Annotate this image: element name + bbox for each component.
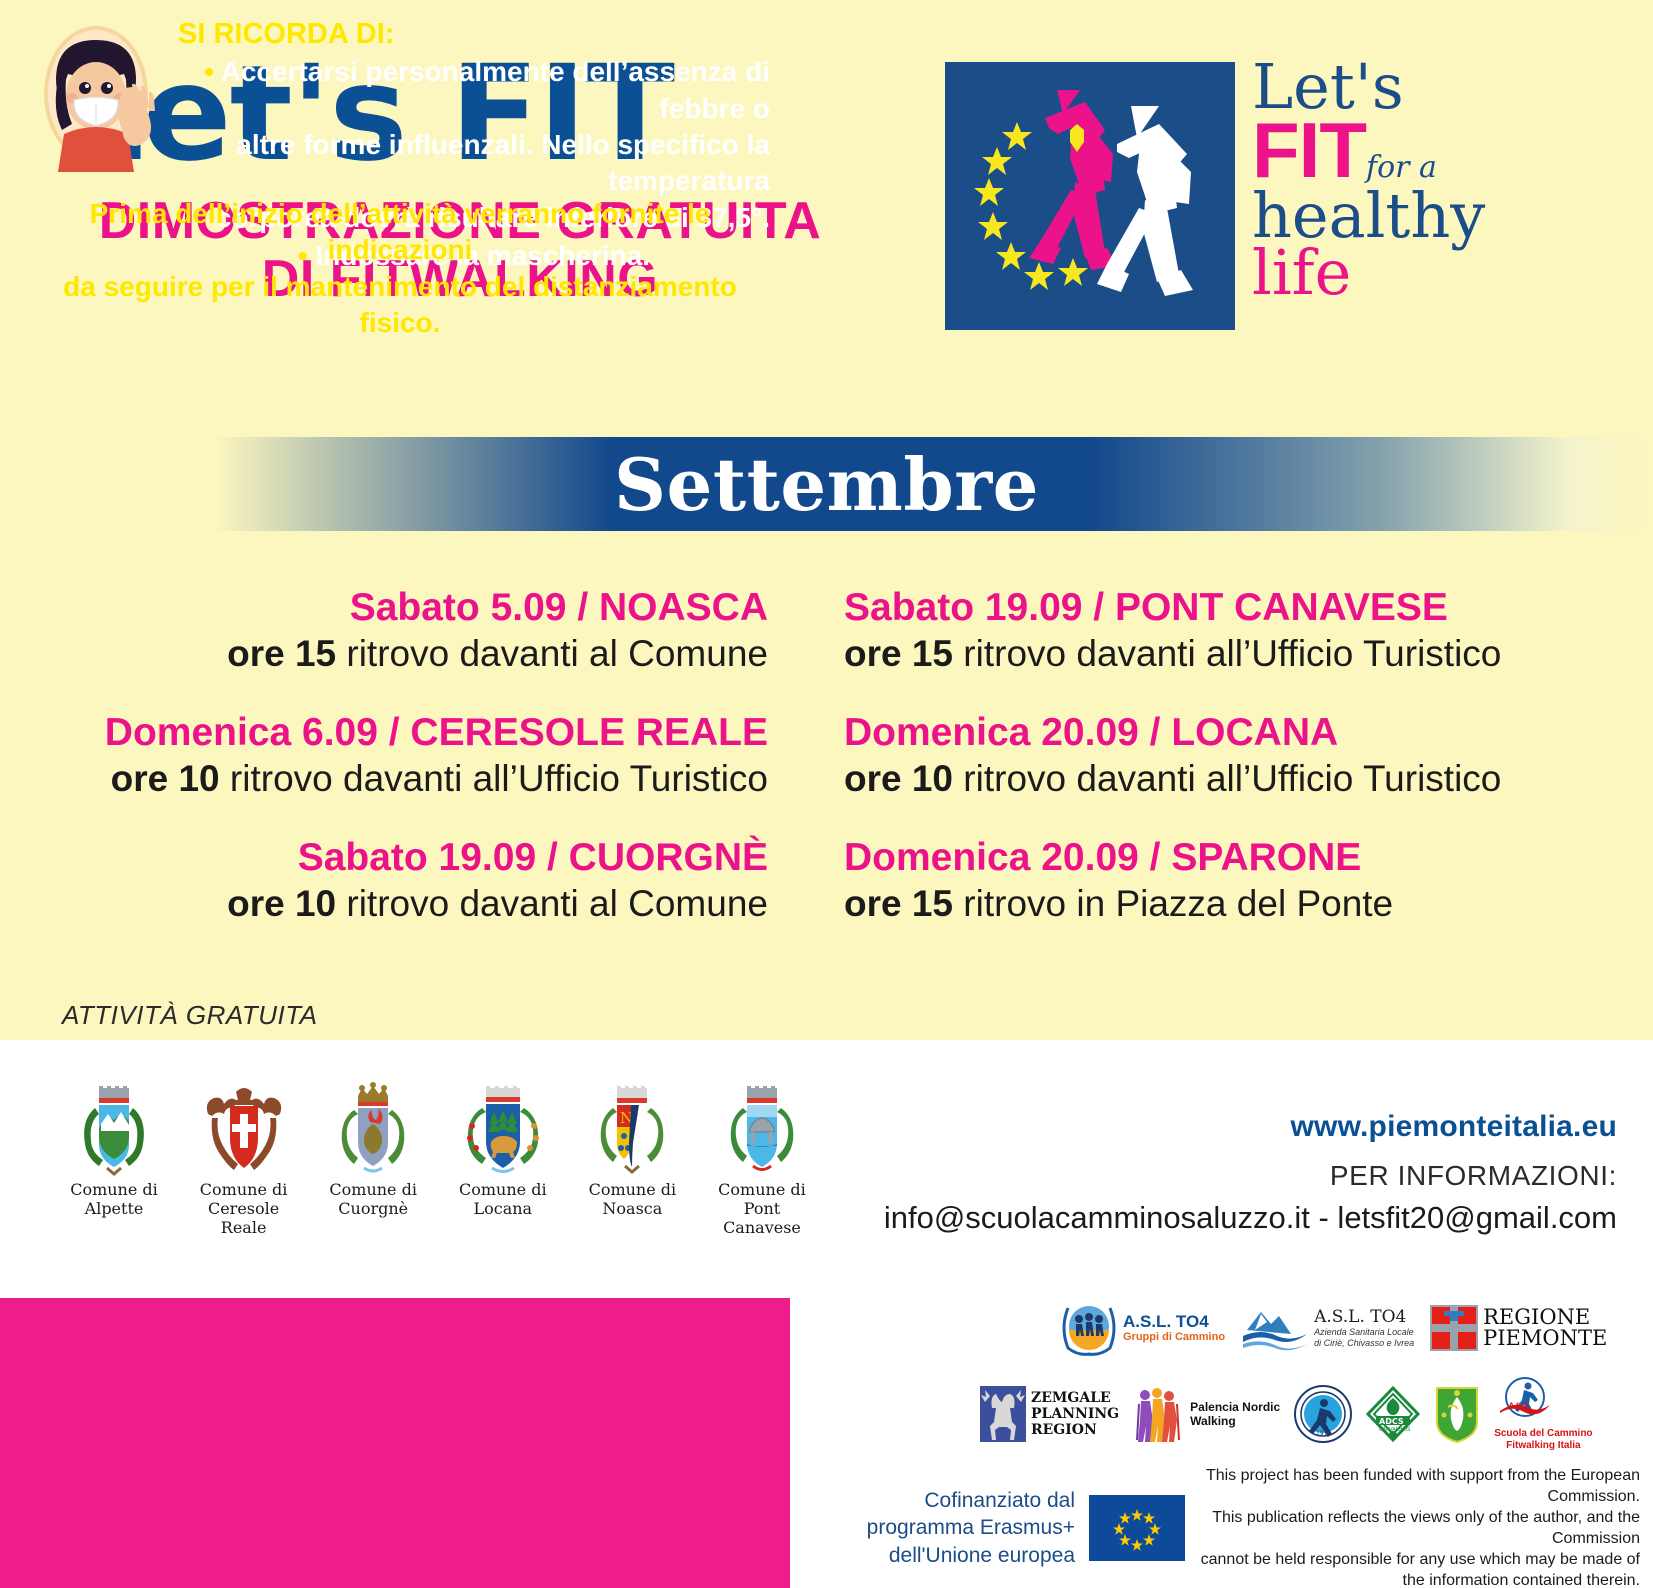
crest-pont-canavese-icon bbox=[706, 1078, 818, 1176]
event-time: ore 15 bbox=[227, 633, 336, 674]
erasmus-cofunded-text: Cofinanziato dal programma Erasmus+ dell… bbox=[860, 1487, 1075, 1569]
sponsor-scuola-del-cammino: A.S.D. Scuola del Cammino Fitwalking Ita… bbox=[1494, 1377, 1592, 1451]
asl-to4-main: A.S.L. TO4 bbox=[1314, 1307, 1414, 1327]
event-time: ore 10 bbox=[844, 758, 953, 799]
event-time: ore 15 bbox=[844, 633, 953, 674]
sponsor-green-shield bbox=[1434, 1385, 1480, 1443]
event-title: Sabato 19.09 / PONT CANAVESE bbox=[844, 585, 1652, 631]
scuola-cammino-icon: A.S.D. bbox=[1494, 1377, 1556, 1423]
event-time: ore 15 bbox=[844, 883, 953, 924]
free-activity-note: ATTIVITÀ GRATUITA bbox=[62, 1000, 318, 1031]
event-title: Sabato 19.09 / CUORGNÈ bbox=[0, 835, 768, 881]
asl-to4-mountain-icon bbox=[1241, 1304, 1309, 1352]
nordic-walkers-icon bbox=[1133, 1386, 1185, 1442]
erasmus-disclaimer: This project has been funded with suppor… bbox=[1199, 1465, 1640, 1588]
regione-piemonte-text: REGIONE PIEMONTE bbox=[1483, 1307, 1607, 1349]
event-detail: ore 15 ritrovo davanti al Comune bbox=[0, 631, 768, 676]
sponsor-regione-piemonte: REGIONE PIEMONTE bbox=[1430, 1305, 1607, 1351]
crest-alpette: Comune di Alpette bbox=[58, 1078, 170, 1238]
asl-to4-text: A.S.L. TO4 Azienda Sanitaria Locale di C… bbox=[1314, 1307, 1414, 1350]
sponsor-zemgale: ZEMGALE PLANNING REGION bbox=[980, 1386, 1119, 1442]
svg-text:1979: 1979 bbox=[1316, 1430, 1331, 1437]
notice-item-1-line-2: altre forme influenzali. Nello specifico… bbox=[178, 127, 770, 200]
adcs-carvalhais-icon: ADCS CARVALHAIS bbox=[1366, 1386, 1420, 1442]
notice-footer-line-1: Prima dell’inizio dell’attività verranno… bbox=[40, 196, 760, 269]
municipal-crests: Comune di Alpette bbox=[58, 1078, 818, 1238]
poster-root: Let's FIT DIMOSTRAZIONE GRATUITA DI FITW… bbox=[0, 0, 1653, 1588]
crest-locana: Comune di Locana bbox=[447, 1078, 559, 1238]
events-section: Sabato 5.09 / NOASCA ore 15 ritrovo dava… bbox=[0, 585, 1653, 960]
regione-piemonte-icon bbox=[1430, 1305, 1478, 1351]
event-item: Domenica 6.09 / CERESOLE REALE ore 10 ri… bbox=[0, 710, 768, 801]
letsfit-logo bbox=[945, 62, 1235, 330]
event-time: ore 10 bbox=[227, 883, 336, 924]
contacts-block: www.piemonteitalia.eu PER INFORMAZIONI: … bbox=[817, 1110, 1617, 1236]
crest-alpette-icon bbox=[58, 1078, 170, 1176]
asd-label: A.S.D. bbox=[1509, 1402, 1530, 1409]
crest-ceresole-reale: Comune di Ceresole Reale bbox=[188, 1078, 300, 1238]
crest-locana-icon bbox=[447, 1078, 559, 1176]
info-label: PER INFORMAZIONI: bbox=[817, 1160, 1617, 1192]
event-time: ore 10 bbox=[111, 758, 220, 799]
crest-noasca-icon: N bbox=[576, 1078, 688, 1176]
event-location: ritrovo in Piazza del Ponte bbox=[953, 883, 1393, 924]
event-item: Domenica 20.09 / SPARONE ore 15 ritrovo … bbox=[844, 835, 1652, 926]
crest-noasca: N Comune di Noasca bbox=[576, 1078, 688, 1238]
event-detail: ore 15 ritrovo davanti all’Ufficio Turis… bbox=[844, 631, 1652, 676]
sponsor-asl-gruppi-di-cammino: A.S.L. TO4 Gruppi di Cammino bbox=[1060, 1300, 1225, 1356]
website-link[interactable]: www.piemonteitalia.eu bbox=[817, 1110, 1617, 1144]
covid-notice-footer: Prima dell’inizio dell’attività verranno… bbox=[40, 196, 760, 342]
zemgale-text: ZEMGALE PLANNING REGION bbox=[1031, 1390, 1119, 1438]
sponsor-walking-club-seal: 1979 bbox=[1294, 1385, 1352, 1443]
crest-caption: Comune di Ceresole Reale bbox=[188, 1180, 300, 1238]
event-item: Sabato 5.09 / NOASCA ore 15 ritrovo dava… bbox=[0, 585, 768, 676]
sponsor-palencia-nordic-walking: Palencia Nordic Walking bbox=[1133, 1386, 1280, 1442]
asl-to4-sub: Azienda Sanitaria Locale di Ciriè, Chiva… bbox=[1314, 1327, 1414, 1350]
palencia-text: Palencia Nordic Walking bbox=[1190, 1400, 1280, 1429]
sponsor-logos-row-1: A.S.L. TO4 Gruppi di Cammino A.S.L. TO4 … bbox=[1060, 1288, 1640, 1368]
wordmark-life: life bbox=[1252, 244, 1522, 301]
scuola-logo-group: A.S.D. Scuola del Cammino Fitwalking Ita… bbox=[1494, 1377, 1592, 1451]
event-location: ritrovo davanti all’Ufficio Turistico bbox=[953, 633, 1501, 674]
crest-caption: Comune di Noasca bbox=[576, 1180, 688, 1218]
notice-heading: SI RICORDA DI: bbox=[178, 16, 770, 52]
month-banner-label: Settembre bbox=[0, 437, 1653, 531]
event-detail: ore 15 ritrovo in Piazza del Ponte bbox=[844, 881, 1652, 926]
asl-gruppi-text: A.S.L. TO4 Gruppi di Cammino bbox=[1123, 1313, 1225, 1343]
email-addresses[interactable]: info@scuolacamminosaluzzo.it - letsfit20… bbox=[817, 1200, 1617, 1236]
crest-caption: Comune di Alpette bbox=[58, 1180, 170, 1218]
green-shield-icon bbox=[1434, 1385, 1480, 1443]
crest-caption: Comune di Cuorgnè bbox=[317, 1180, 429, 1218]
notice-text: Accertarsi personalmente dell’assenza di… bbox=[221, 56, 770, 123]
event-title: Domenica 6.09 / CERESOLE REALE bbox=[0, 710, 768, 756]
events-column-right: Sabato 19.09 / PONT CANAVESE ore 15 ritr… bbox=[826, 585, 1652, 960]
notice-item-1-line-1: • Accertarsi personalmente dell’assenza … bbox=[178, 54, 770, 127]
event-detail: ore 10 ritrovo davanti all’Ufficio Turis… bbox=[0, 756, 768, 801]
sponsor-asl-to4: A.S.L. TO4 Azienda Sanitaria Locale di C… bbox=[1241, 1304, 1414, 1352]
crest-cuorgne: Comune di Cuorgnè bbox=[317, 1078, 429, 1238]
gruppi-di-cammino-icon bbox=[1060, 1300, 1118, 1356]
masked-person-icon bbox=[44, 22, 166, 172]
erasmus-footer: Cofinanziato dal programma Erasmus+ dell… bbox=[860, 1480, 1640, 1576]
sponsor-logos-row-2: ZEMGALE PLANNING REGION Palencia Nordic … bbox=[980, 1372, 1640, 1456]
crest-ceresole-reale-icon bbox=[188, 1078, 300, 1176]
crest-caption: Comune di Pont Canavese bbox=[706, 1180, 818, 1238]
letsfit-wordmark: Let's FITfor a healthy life bbox=[1252, 58, 1522, 301]
bullet-icon: • bbox=[204, 56, 214, 87]
asl-gruppi-main: A.S.L. TO4 bbox=[1123, 1313, 1225, 1331]
asl-gruppi-sub: Gruppi di Cammino bbox=[1123, 1331, 1225, 1343]
events-column-left: Sabato 5.09 / NOASCA ore 15 ritrovo dava… bbox=[0, 585, 826, 960]
event-location: ritrovo davanti all’Ufficio Turistico bbox=[953, 758, 1501, 799]
crest-pont-canavese: Comune di Pont Canavese bbox=[706, 1078, 818, 1238]
crest-cuorgne-icon bbox=[317, 1078, 429, 1176]
covid-notice-box bbox=[0, 1298, 790, 1588]
adcs-label: ADCS bbox=[1379, 1417, 1404, 1426]
event-item: Sabato 19.09 / CUORGNÈ ore 10 ritrovo da… bbox=[0, 835, 768, 926]
walking-club-seal-icon: 1979 bbox=[1294, 1385, 1352, 1443]
eu-flag-icon bbox=[1089, 1495, 1185, 1561]
event-location: ritrovo davanti all’Ufficio Turistico bbox=[220, 758, 768, 799]
scuola-text: Scuola del Cammino Fitwalking Italia bbox=[1494, 1428, 1592, 1451]
sponsor-adcs-carvalhais: ADCS CARVALHAIS bbox=[1366, 1386, 1420, 1442]
walkers-logo-icon bbox=[945, 62, 1235, 330]
event-item: Domenica 20.09 / LOCANA ore 10 ritrovo d… bbox=[844, 710, 1652, 801]
event-location: ritrovo davanti al Comune bbox=[336, 883, 768, 924]
event-item: Sabato 19.09 / PONT CANAVESE ore 15 ritr… bbox=[844, 585, 1652, 676]
zemgale-moose-icon bbox=[980, 1386, 1026, 1442]
event-title: Domenica 20.09 / SPARONE bbox=[844, 835, 1652, 881]
event-title: Domenica 20.09 / LOCANA bbox=[844, 710, 1652, 756]
wordmark-fit-row: FITfor a bbox=[1252, 115, 1522, 187]
notice-footer-line-2: da seguire per il mantenimento del dista… bbox=[40, 269, 760, 342]
event-detail: ore 10 ritrovo davanti all’Ufficio Turis… bbox=[844, 756, 1652, 801]
event-title: Sabato 5.09 / NOASCA bbox=[0, 585, 768, 631]
crest-caption: Comune di Locana bbox=[447, 1180, 559, 1218]
event-detail: ore 10 ritrovo davanti al Comune bbox=[0, 881, 768, 926]
event-location: ritrovo davanti al Comune bbox=[336, 633, 768, 674]
